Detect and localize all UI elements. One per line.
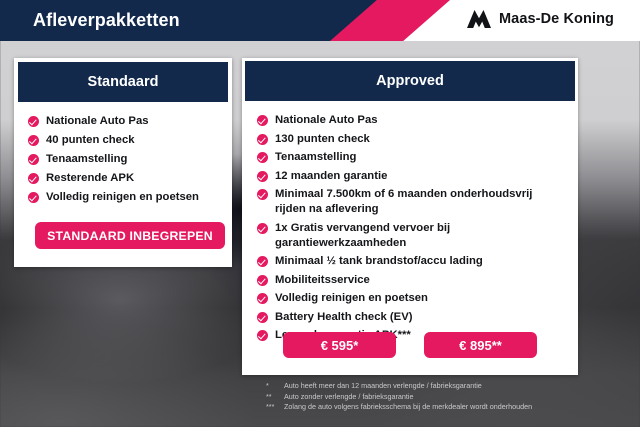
check-circle-icon — [257, 189, 268, 200]
feature-label: Minimaal 7.500km of 6 maanden onderhouds… — [275, 187, 578, 217]
check-circle-icon — [257, 223, 268, 234]
list-item: 130 punten check — [257, 132, 578, 147]
package-card-approved: Approved Nationale Auto Pas 130 punten c… — [242, 58, 578, 375]
package-card-standaard: Standaard Nationale Auto Pas 40 punten c… — [14, 58, 232, 267]
list-item: Nationale Auto Pas — [257, 113, 578, 128]
feature-label: Nationale Auto Pas — [275, 113, 578, 128]
list-item: Minimaal 7.500km of 6 maanden onderhouds… — [257, 187, 578, 217]
check-circle-icon — [28, 173, 39, 184]
list-item: 1x Gratis vervangend vervoer bij garanti… — [257, 221, 578, 251]
check-circle-icon — [28, 154, 39, 165]
feature-label: Volledig reinigen en poetsen — [275, 291, 578, 306]
footnote-text: Auto zonder verlengde / fabrieksgarantie — [284, 392, 626, 403]
check-circle-icon — [257, 152, 268, 163]
price-button-595[interactable]: € 595* — [283, 332, 396, 358]
price-button-895[interactable]: € 895** — [424, 332, 537, 358]
list-item: Tenaamstelling — [257, 150, 578, 165]
footnotes: * Auto heeft meer dan 12 maanden verleng… — [266, 381, 626, 413]
feature-list-approved: Nationale Auto Pas 130 punten check Tena… — [242, 101, 578, 343]
feature-label: 1x Gratis vervangend vervoer bij garanti… — [275, 221, 578, 251]
list-item: Minimaal ½ tank brandstof/accu lading — [257, 254, 578, 269]
check-circle-icon — [28, 135, 39, 146]
brand-logo: Maas-De Koning — [466, 9, 614, 29]
feature-label: Resterende APK — [46, 171, 232, 186]
price-button-row: € 595* € 895** — [242, 332, 578, 358]
feature-list-standaard: Nationale Auto Pas 40 punten check Tenaa… — [14, 102, 232, 205]
footnote-item: * Auto heeft meer dan 12 maanden verleng… — [266, 381, 626, 392]
feature-label: Mobiliteitsservice — [275, 273, 578, 288]
check-circle-icon — [257, 293, 268, 304]
check-circle-icon — [28, 192, 39, 203]
feature-label: Tenaamstelling — [46, 152, 232, 167]
maas-de-koning-m-logo-icon — [466, 9, 492, 29]
package-heading-standaard: Standaard — [18, 62, 228, 102]
footnote-item: ** Auto zonder verlengde / fabrieksgaran… — [266, 392, 626, 403]
list-item: Volledig reinigen en poetsen — [257, 291, 578, 306]
feature-label: Battery Health check (EV) — [275, 310, 578, 325]
footnote-text: Auto heeft meer dan 12 maanden verlengde… — [284, 381, 626, 392]
list-item: 40 punten check — [28, 133, 232, 148]
standaard-inbegrepen-button[interactable]: STANDAARD INBEGREPEN — [35, 222, 225, 249]
feature-label: 130 punten check — [275, 132, 578, 147]
package-heading-approved: Approved — [245, 61, 575, 101]
feature-label: Nationale Auto Pas — [46, 114, 232, 129]
list-item: Tenaamstelling — [28, 152, 232, 167]
check-circle-icon — [257, 115, 268, 126]
list-item: 12 maanden garantie — [257, 169, 578, 184]
page-header: Afleverpakketten Maas-De Koning — [0, 0, 640, 41]
check-circle-icon — [28, 116, 39, 127]
check-circle-icon — [257, 171, 268, 182]
footnote-item: *** Zolang de auto volgens fabrieksschem… — [266, 402, 626, 413]
check-circle-icon — [257, 312, 268, 323]
list-item: Resterende APK — [28, 171, 232, 186]
feature-label: 12 maanden garantie — [275, 169, 578, 184]
footnote-symbol: * — [266, 381, 284, 392]
check-circle-icon — [257, 256, 268, 267]
feature-label: Volledig reinigen en poetsen — [46, 190, 232, 205]
check-circle-icon — [257, 134, 268, 145]
brand-name: Maas-De Koning — [499, 11, 614, 27]
footnote-symbol: *** — [266, 402, 284, 413]
feature-label-line2: rijden na aflevering — [275, 202, 578, 217]
list-item: Volledig reinigen en poetsen — [28, 190, 232, 205]
footnote-symbol: ** — [266, 392, 284, 403]
check-circle-icon — [257, 275, 268, 286]
page-title: Afleverpakketten — [33, 10, 180, 31]
feature-label: Tenaamstelling — [275, 150, 578, 165]
footnote-text: Zolang de auto volgens fabrieksschema bi… — [284, 402, 626, 413]
feature-label-line1: Minimaal 7.500km of 6 maanden onderhouds… — [275, 188, 532, 200]
list-item: Battery Health check (EV) — [257, 310, 578, 325]
feature-label: Minimaal ½ tank brandstof/accu lading — [275, 254, 578, 269]
list-item: Mobiliteitsservice — [257, 273, 578, 288]
feature-label: 40 punten check — [46, 133, 232, 148]
list-item: Nationale Auto Pas — [28, 114, 232, 129]
